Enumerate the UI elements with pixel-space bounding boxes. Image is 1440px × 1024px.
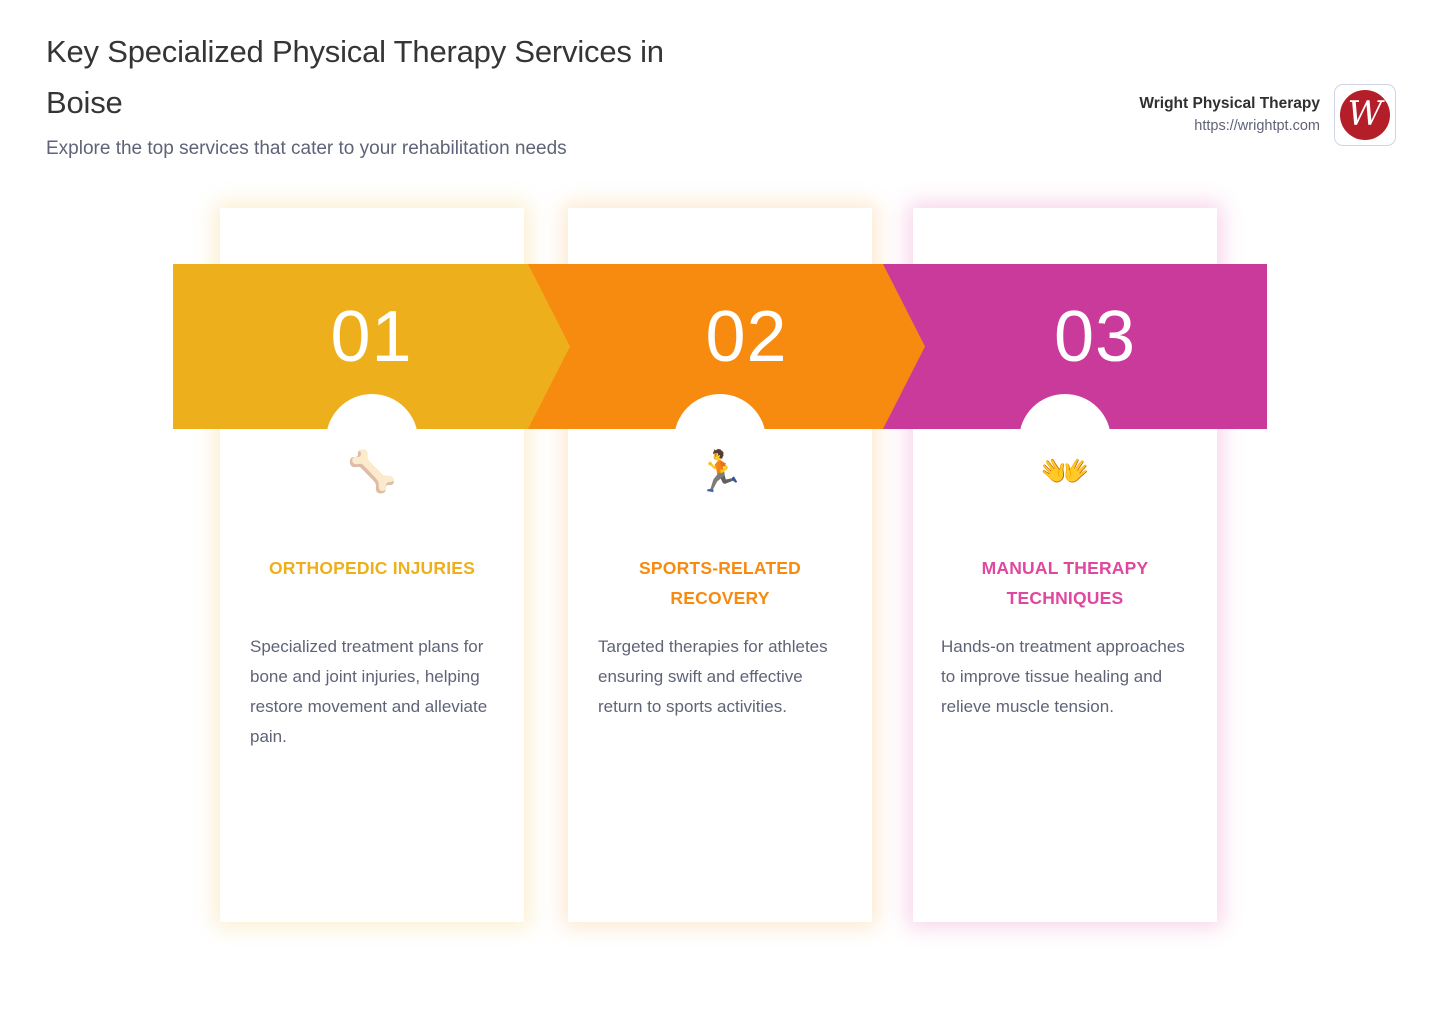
page-subtitle: Explore the top services that cater to y…: [46, 133, 621, 164]
running-person-emoji: 🏃: [568, 448, 872, 496]
step-title-2: SPORTS-RELATED RECOVERY: [600, 553, 840, 613]
brand-text: Wright Physical Therapy https://wrightpt…: [1139, 93, 1320, 137]
step-number-3: 03: [1054, 301, 1136, 373]
step-title-1: ORTHOPEDIC INJURIES: [252, 553, 492, 583]
brand-block: Wright Physical Therapy https://wrightpt…: [1139, 84, 1396, 146]
page-title: Key Specialized Physical Therapy Service…: [46, 26, 686, 128]
step-body-3: Hands-on treatment approaches to improve…: [941, 632, 1185, 722]
brand-url[interactable]: https://wrightpt.com: [1139, 115, 1320, 137]
bone-emoji: 🦴: [220, 448, 524, 496]
brand-name: Wright Physical Therapy: [1139, 93, 1320, 115]
step-body-2: Targeted therapies for athletes ensuring…: [598, 632, 842, 722]
infographic-page: Key Specialized Physical Therapy Service…: [0, 0, 1440, 1024]
open-hands-emoji: 👐: [913, 448, 1217, 496]
step-number-2: 02: [705, 301, 787, 373]
logo-letter: W: [1348, 97, 1383, 131]
step-title-3: MANUAL THERAPY TECHNIQUES: [945, 553, 1185, 613]
step-body-1: Specialized treatment plans for bone and…: [250, 632, 494, 752]
logo-circle-icon: W: [1340, 90, 1390, 140]
step-number-1: 01: [330, 301, 412, 373]
brand-logo: W: [1334, 84, 1396, 146]
